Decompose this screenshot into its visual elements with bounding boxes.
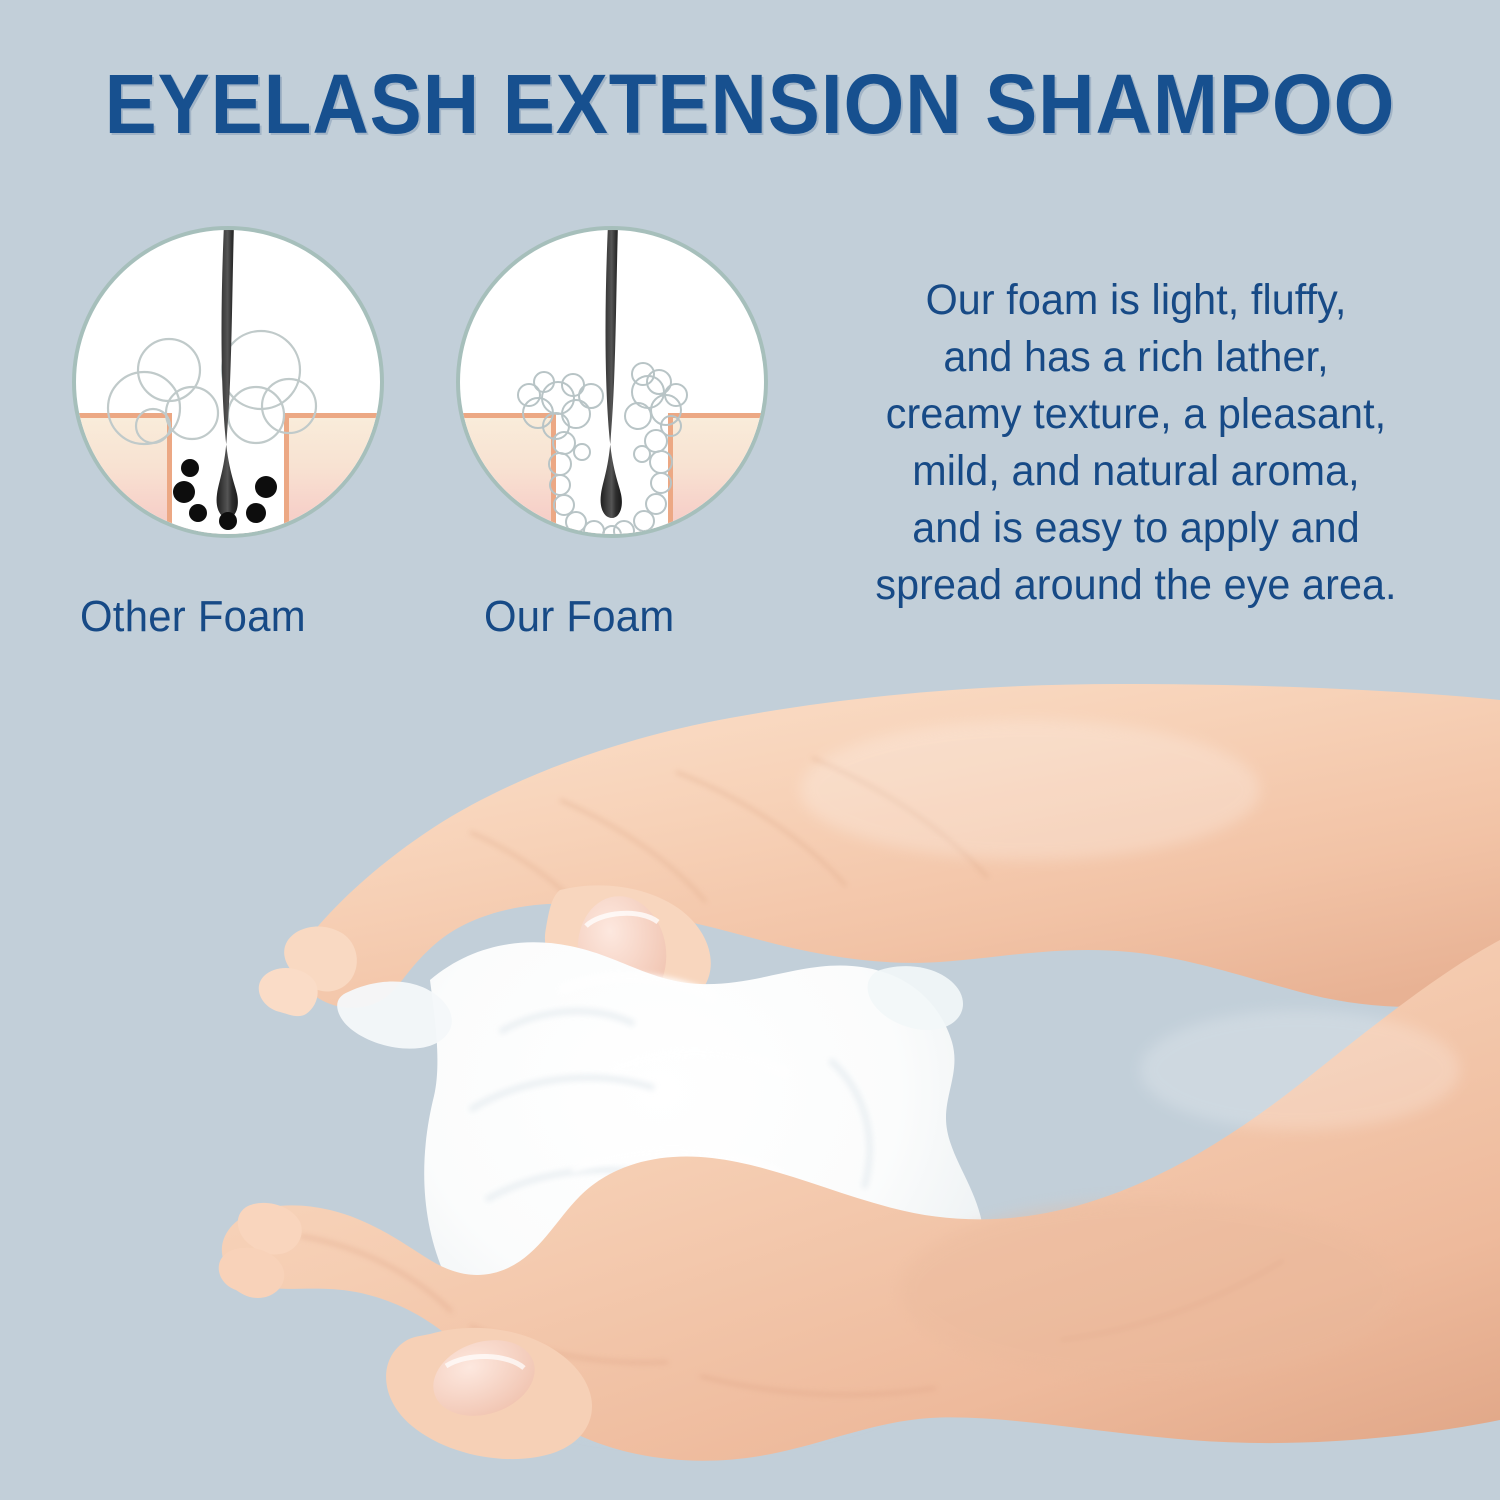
- caption-other-foam: Other Foam: [80, 592, 306, 642]
- dirt-particles: [76, 230, 380, 534]
- page-title: EYELASH EXTENSION SHAMPOO: [105, 62, 1396, 146]
- hands-holding-foam-photo: [0, 640, 1500, 1500]
- diagram-other-foam: [72, 226, 384, 538]
- diagram-our-foam: [456, 226, 768, 538]
- description-line: and has a rich lather,: [813, 329, 1458, 386]
- description-line: mild, and natural aroma,: [813, 443, 1458, 500]
- description-line: spread around the eye area.: [813, 557, 1458, 614]
- header: EYELASH EXTENSION SHAMPOO: [0, 62, 1500, 146]
- hair-shaft: [595, 226, 629, 538]
- product-description: Our foam is light, fluffy, and has a ric…: [800, 272, 1472, 614]
- caption-our-foam: Our Foam: [484, 592, 674, 642]
- description-line: and is easy to apply and: [813, 500, 1458, 557]
- description-line: Our foam is light, fluffy,: [813, 272, 1458, 329]
- description-line: creamy texture, a pleasant,: [813, 386, 1458, 443]
